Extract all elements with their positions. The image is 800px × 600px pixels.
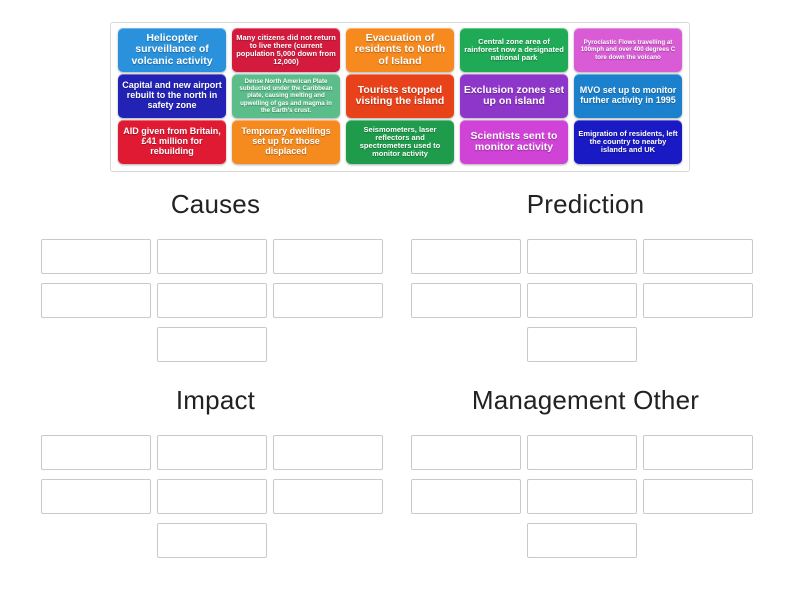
tile-label: Emigration of residents, left the countr… [577, 130, 679, 154]
tile-label: Seismometers, laser reflectors and spect… [349, 126, 451, 158]
drop-zone[interactable] [157, 327, 267, 362]
drop-zone[interactable] [157, 283, 267, 318]
draggable-tile[interactable]: Many citizens did not return to live the… [232, 28, 340, 72]
draggable-tile[interactable]: Evacuation of residents to North of Isla… [346, 28, 454, 72]
draggable-tile[interactable]: Seismometers, laser reflectors and spect… [346, 120, 454, 164]
drop-zone[interactable] [41, 283, 151, 318]
draggable-tile[interactable]: Helicopter surveillance of volcanic acti… [118, 28, 226, 72]
category-impact: Impact [38, 386, 393, 567]
tile-label: Central zone area of rainforest now a de… [463, 38, 565, 62]
tile-row: Capital and new airport rebuilt to the n… [115, 74, 685, 118]
drop-zone[interactable] [273, 283, 383, 318]
draggable-tile[interactable]: MVO set up to monitor further activity i… [574, 74, 682, 118]
drop-zone[interactable] [643, 435, 753, 470]
drop-zone[interactable] [643, 239, 753, 274]
draggable-tile[interactable]: AID given from Britain, £41 million for … [118, 120, 226, 164]
tile-label: MVO set up to monitor further activity i… [577, 86, 679, 105]
category-title-causes: Causes [38, 190, 393, 219]
drop-zone-grid-causes [38, 239, 393, 371]
drop-zone[interactable] [411, 479, 521, 514]
tile-label: Many citizens did not return to live the… [235, 34, 337, 66]
drop-zone[interactable] [157, 523, 267, 558]
draggable-tile[interactable]: Pyroclastic Flows travelling at 100mph a… [574, 28, 682, 72]
drop-zone[interactable] [527, 479, 637, 514]
tile-label: Evacuation of residents to North of Isla… [349, 33, 451, 67]
tile-label: Dense North American Plate subducted und… [235, 78, 337, 115]
tile-label: Helicopter surveillance of volcanic acti… [121, 33, 223, 67]
drop-zone[interactable] [157, 479, 267, 514]
category-prediction: Prediction [408, 190, 763, 371]
drop-zone-grid-prediction [408, 239, 763, 371]
drop-zone[interactable] [41, 479, 151, 514]
draggable-tile[interactable]: Dense North American Plate subducted und… [232, 74, 340, 118]
category-title-management-other: Management Other [408, 386, 763, 415]
draggable-tile[interactable]: Capital and new airport rebuilt to the n… [118, 74, 226, 118]
drop-zone[interactable] [411, 283, 521, 318]
drop-zone[interactable] [527, 239, 637, 274]
draggable-tile-bank: Helicopter surveillance of volcanic acti… [110, 22, 690, 172]
drop-zone[interactable] [41, 435, 151, 470]
draggable-tile[interactable]: Exclusion zones set up on island [460, 74, 568, 118]
category-title-impact: Impact [38, 386, 393, 415]
tile-label: Temporary dwellings set up for those dis… [235, 127, 337, 156]
category-management-other: Management Other [408, 386, 763, 567]
tile-label: Exclusion zones set up on island [463, 85, 565, 108]
drop-zone[interactable] [273, 239, 383, 274]
tile-row: Helicopter surveillance of volcanic acti… [115, 28, 685, 72]
drop-zone[interactable] [527, 435, 637, 470]
draggable-tile[interactable]: Tourists stopped visiting the island [346, 74, 454, 118]
drop-zone[interactable] [643, 283, 753, 318]
tile-row: AID given from Britain, £41 million for … [115, 120, 685, 164]
drop-zone[interactable] [411, 435, 521, 470]
tile-label: Capital and new airport rebuilt to the n… [121, 81, 223, 110]
draggable-tile[interactable]: Scientists sent to monitor activity [460, 120, 568, 164]
category-title-prediction: Prediction [408, 190, 763, 219]
category-causes: Causes [38, 190, 393, 371]
draggable-tile[interactable]: Central zone area of rainforest now a de… [460, 28, 568, 72]
drop-zone[interactable] [273, 479, 383, 514]
drop-zone[interactable] [643, 479, 753, 514]
tile-label: Pyroclastic Flows travelling at 100mph a… [577, 39, 679, 61]
draggable-tile[interactable]: Temporary dwellings set up for those dis… [232, 120, 340, 164]
drop-zone[interactable] [527, 523, 637, 558]
tile-label: AID given from Britain, £41 million for … [121, 127, 223, 156]
drop-zone-grid-impact [38, 435, 393, 567]
draggable-tile[interactable]: Emigration of residents, left the countr… [574, 120, 682, 164]
tile-label: Scientists sent to monitor activity [463, 131, 565, 154]
drop-zone-grid-management-other [408, 435, 763, 567]
drop-zone[interactable] [273, 435, 383, 470]
drop-zone[interactable] [527, 327, 637, 362]
drop-zone[interactable] [41, 239, 151, 274]
drop-zone[interactable] [157, 435, 267, 470]
drop-zone[interactable] [157, 239, 267, 274]
drop-zone[interactable] [527, 283, 637, 318]
drop-zone[interactable] [411, 239, 521, 274]
tile-label: Tourists stopped visiting the island [349, 85, 451, 108]
